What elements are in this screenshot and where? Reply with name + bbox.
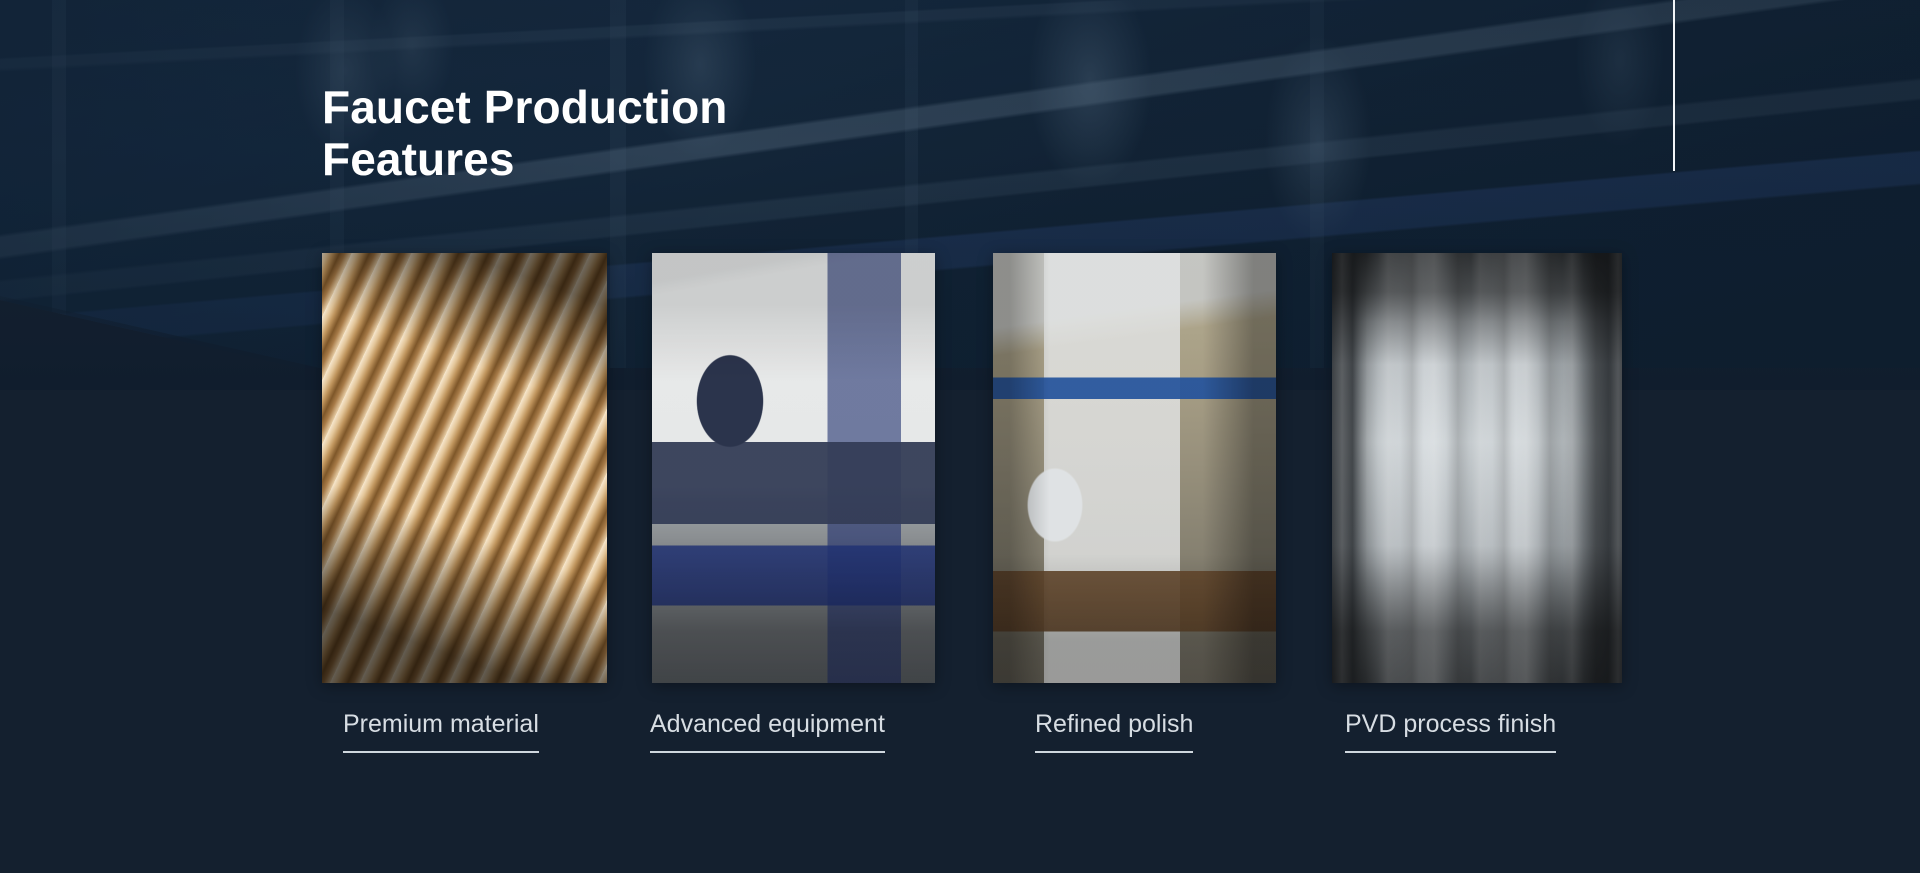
- feature-caption-refined-polish: Refined polish: [1035, 710, 1193, 753]
- feature-card-refined-polish[interactable]: [993, 253, 1276, 683]
- feature-card-advanced-equipment[interactable]: [652, 253, 935, 683]
- vertical-accent-rule: [1673, 0, 1675, 171]
- page-title: Faucet Production Features: [322, 82, 942, 185]
- cnc-machining-photo: [652, 253, 935, 683]
- polishing-station-photo: [993, 253, 1276, 683]
- feature-card-premium-material[interactable]: [322, 253, 607, 683]
- feature-banner: Faucet Production Features Premium mater…: [0, 0, 1920, 873]
- copper-rods-photo: [322, 253, 607, 683]
- feature-caption-premium-material: Premium material: [343, 710, 539, 753]
- feature-caption-pvd-process-finish: PVD process finish: [1345, 710, 1556, 753]
- feature-cards-row: [322, 253, 1622, 683]
- feature-card-pvd-process-finish[interactable]: [1332, 253, 1622, 683]
- pvd-coating-chamber-photo: [1332, 253, 1622, 683]
- feature-caption-advanced-equipment: Advanced equipment: [650, 710, 885, 753]
